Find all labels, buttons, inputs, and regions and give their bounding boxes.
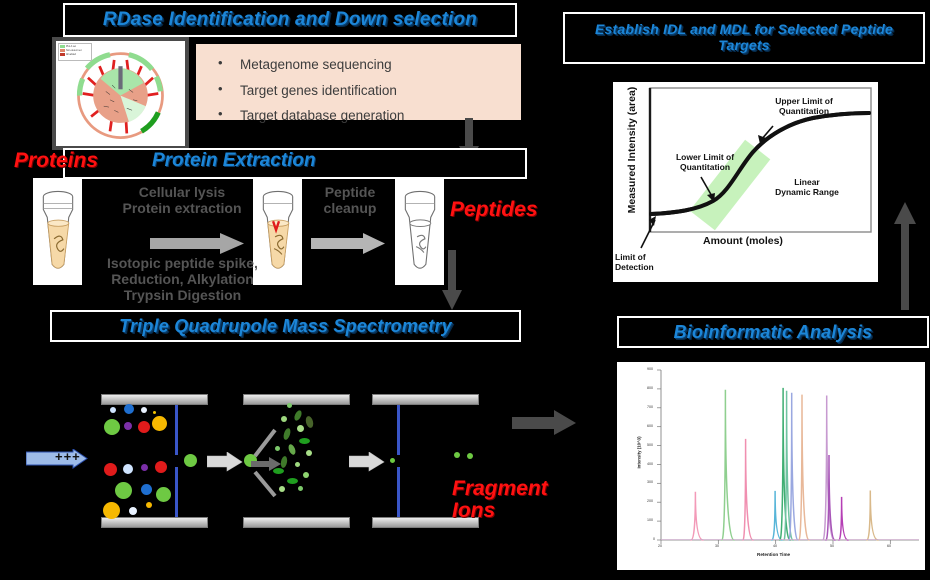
fragment-ion	[273, 468, 284, 474]
flow-arrow-ms-to-bioinformatics	[512, 410, 578, 436]
calibration-x-axis-label: Amount (moles)	[703, 235, 783, 247]
annotation-ldr-line1: Linear	[763, 177, 851, 187]
legend-row: All added	[60, 53, 90, 56]
chrom-ytick: 400	[647, 462, 653, 466]
chrom-ytick: 700	[647, 405, 653, 409]
extraction-step3-line2: cleanup	[305, 200, 395, 216]
annotation-upper-limit: Upper Limit of Quantitation	[756, 96, 852, 116]
label-peptides-text: Peptides	[450, 198, 538, 221]
ion-particle	[138, 421, 150, 433]
chromatogram-y-axis-label: Intensity (10^3)	[637, 423, 642, 483]
extraction-step1-line2: Protein extraction	[97, 200, 267, 216]
fragment-ion	[306, 450, 312, 456]
legend-label: All added	[66, 53, 76, 56]
annotation-ldr-line2: Dynamic Range	[763, 187, 851, 197]
fragment-ion	[295, 462, 300, 467]
chromatogram-svg	[617, 362, 925, 570]
eppendorf-tube-proteins-icon	[38, 188, 78, 276]
ion-particle	[123, 464, 133, 474]
q1-bottom-plate	[101, 517, 208, 528]
annotation-lower-limit-line1: Lower Limit of	[659, 152, 751, 162]
legend-row: Non-detect set	[60, 49, 90, 52]
fragment-ion	[303, 472, 309, 478]
tube-card-proteins	[33, 178, 82, 285]
q3-rod-lower	[397, 467, 400, 517]
q1-top-plate	[101, 394, 208, 405]
annotation-upper-limit-line2: Quantitation	[756, 106, 852, 116]
q3-top-plate	[372, 394, 479, 405]
annotation-lod-line2: Detection	[615, 262, 681, 272]
chrom-ytick: 0	[653, 537, 655, 541]
chromatogram-x-axis-label: Retention Time	[757, 552, 790, 557]
chrom-xtick: 30	[715, 544, 719, 548]
flow-arrow-extraction-to-ms	[438, 250, 466, 312]
fragment-ion	[275, 446, 280, 451]
annotation-linear-dynamic-range: Linear Dynamic Range	[763, 177, 851, 197]
selected-fragment-ion	[454, 452, 460, 458]
ion-particle	[110, 407, 116, 413]
eppendorf-tube-peptides-icon	[400, 188, 440, 276]
annotation-lower-limit-line2: Quantitation	[659, 162, 751, 172]
label-fragment-ions-line2: Ions	[452, 500, 548, 522]
bullet-item: Target genes identification	[240, 78, 511, 104]
selected-precursor-ion	[184, 454, 197, 467]
q3-rod-upper	[397, 405, 400, 455]
process-arrow-lysis	[150, 233, 246, 255]
section-title-bioinformatics: Bioinformatic Analysis	[617, 316, 929, 348]
fragment-ion	[287, 478, 298, 484]
chrom-ytick: 800	[647, 386, 653, 390]
ion-particle	[155, 461, 167, 473]
ion-particle	[141, 407, 147, 413]
flow-arrow-bioinformatics-to-idl	[891, 200, 919, 310]
legend-label: Plot A set	[66, 45, 76, 48]
extraction-step1-line1: Cellular lysis	[97, 184, 267, 200]
ion-particle	[129, 507, 137, 515]
quadrupole-q2-collision-cell	[243, 394, 348, 528]
tube-card-peptides	[395, 178, 444, 285]
chrom-xtick: 20	[658, 544, 662, 548]
ion-particle	[103, 502, 120, 519]
process-arrow-cleanup	[311, 233, 387, 255]
extraction-step3-line1: Peptide	[305, 184, 395, 200]
ion-particle	[104, 463, 117, 476]
label-proteins: Proteins	[14, 149, 98, 173]
q1-exit-rod-lower	[175, 467, 178, 517]
section-title-idl: Establish IDL and MDL for Selected Pepti…	[563, 12, 925, 64]
ion-particle	[104, 419, 120, 435]
ion-inlet-label-text: +++	[55, 449, 81, 464]
label-proteins-text: Proteins	[14, 149, 98, 172]
legend-swatch	[60, 49, 65, 52]
selected-fragment-ion	[390, 458, 395, 463]
arrow-q1-to-q2	[207, 452, 243, 472]
chrom-ytick: 200	[647, 499, 653, 503]
chrom-ytick: 600	[647, 424, 653, 428]
fragment-ion	[287, 403, 292, 408]
fragment-ion	[279, 486, 285, 492]
triple-quadrupole-diagram: +++	[0, 360, 620, 580]
extraction-step2-line3: Trypsin Digestion	[85, 287, 280, 303]
ion-particle	[152, 416, 167, 431]
section-title-ms-text: Triple Quadrupole Mass Spectrometry	[119, 316, 452, 336]
annotation-lower-limit: Lower Limit of Quantitation	[659, 152, 751, 172]
extraction-step1-label: Cellular lysis Protein extraction	[97, 184, 267, 216]
annotation-limit-of-detection: Limit of Detection	[615, 252, 681, 272]
extraction-step2-line1: Isotopic peptide spike,	[85, 255, 280, 271]
section-title-extraction-text: Protein Extraction	[152, 150, 316, 171]
section-title-idl-text: Establish IDL and MDL for Selected Pepti…	[571, 22, 917, 53]
label-fragment-ions: Fragment Ions	[452, 478, 548, 522]
genome-plot-legend: Plot A set Non-detect set All added	[58, 43, 92, 61]
section-title-extraction: Protein Extraction	[152, 150, 316, 172]
legend-swatch	[60, 45, 65, 48]
section-title-rdase: RDase Identification and Down selection	[63, 3, 517, 37]
q2-bottom-plate	[243, 517, 350, 528]
chrom-ytick: 900	[647, 367, 653, 371]
annotation-upper-limit-line1: Upper Limit of	[756, 96, 852, 106]
quadrupole-q1	[101, 394, 206, 528]
extraction-step2-line2: Reduction, Alkylation	[85, 271, 280, 287]
chrom-xtick: 60	[887, 544, 891, 548]
ion-particle	[141, 464, 148, 471]
q1-exit-rod-upper	[175, 405, 178, 455]
fragment-ion	[281, 416, 287, 422]
legend-swatch	[60, 53, 65, 56]
section-title-ms: Triple Quadrupole Mass Spectrometry	[50, 310, 521, 342]
metagenome-plot-canvas: Plot A set Non-detect set All added	[56, 41, 185, 146]
chromatogram-chart: 900 800 700 600 500 400 300 200 100 0 20…	[617, 362, 925, 570]
ion-particle	[156, 487, 171, 502]
calibration-curve-chart: Upper Limit of Quantitation Lower Limit …	[613, 82, 878, 282]
legend-label: Non-detect set	[66, 49, 82, 52]
chrom-ytick: 300	[647, 480, 653, 484]
bullet-item: Metagenome sequencing	[240, 52, 511, 78]
chrom-xtick: 40	[773, 544, 777, 548]
q2-top-plate	[243, 394, 350, 405]
annotation-lod-line1: Limit of	[615, 252, 681, 262]
section-title-rdase-text: RDase Identification and Down selection	[103, 9, 477, 30]
ion-particle	[124, 422, 132, 430]
fragment-ion	[299, 438, 310, 444]
extraction-step2-label: Isotopic peptide spike, Reduction, Alkyl…	[85, 255, 280, 303]
extraction-step3-label: Peptide cleanup	[305, 184, 395, 216]
ion-particle	[146, 502, 152, 508]
label-fragment-ions-line1: Fragment	[452, 478, 548, 500]
ion-particle	[141, 484, 152, 495]
rdase-bullet-panel: Metagenome sequencing Target genes ident…	[196, 44, 521, 120]
calibration-y-axis-label: Measured Intensity (area)	[626, 75, 638, 225]
ion-inlet-label: +++	[55, 449, 81, 464]
chrom-xtick: 50	[830, 544, 834, 548]
fragment-ion	[297, 425, 304, 432]
legend-row: Plot A set	[60, 45, 90, 48]
ion-particle	[115, 482, 132, 499]
fragment-ion	[298, 486, 303, 491]
metagenome-circular-plot: Plot A set Non-detect set All added	[52, 37, 189, 150]
selected-fragment-ion	[467, 453, 473, 459]
section-title-bioinformatics-text: Bioinformatic Analysis	[674, 322, 873, 342]
chrom-ytick: 100	[647, 518, 653, 522]
chrom-ytick: 500	[647, 443, 653, 447]
ion-particle	[153, 411, 156, 414]
ion-particle	[124, 404, 134, 414]
label-peptides: Peptides	[450, 198, 538, 222]
